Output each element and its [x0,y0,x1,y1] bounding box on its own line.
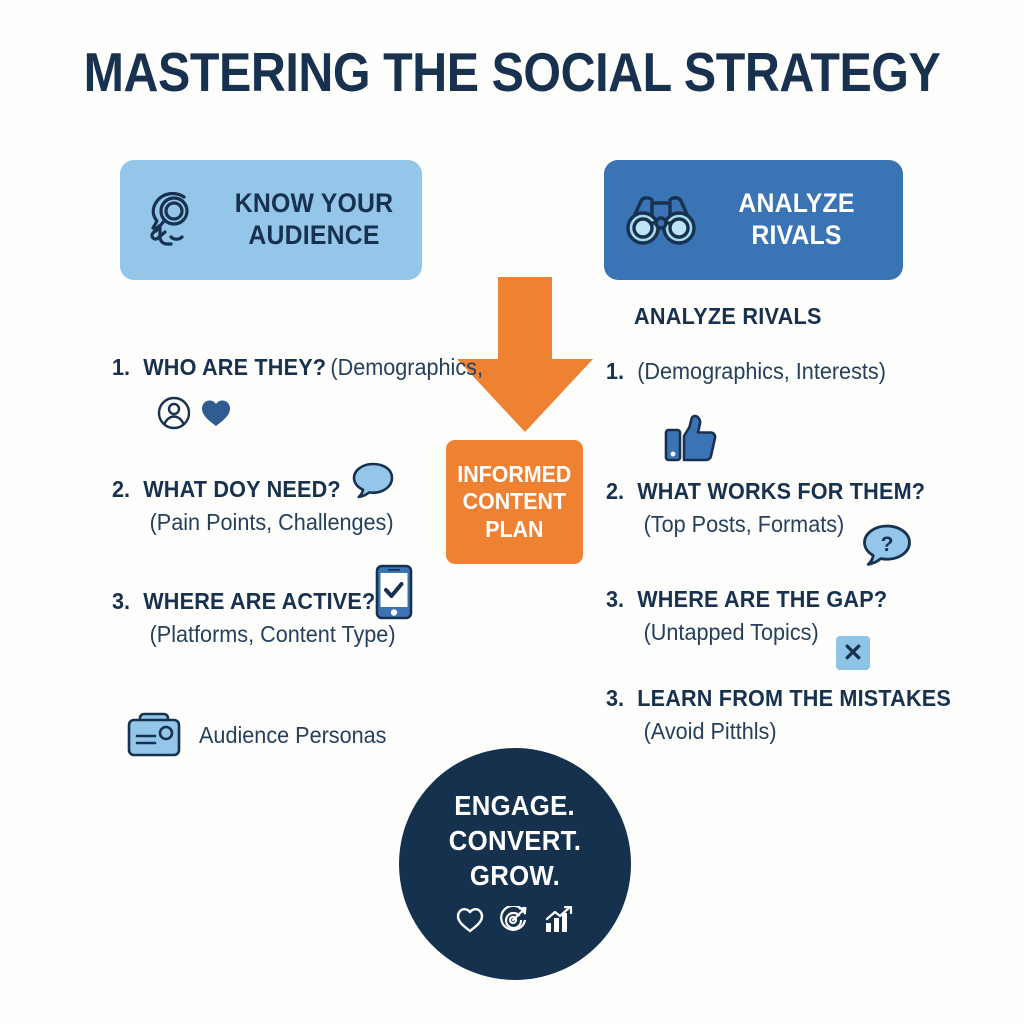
header-pill-know-your-audience[interactable]: KNOW YOUR AUDIENCE [120,160,422,280]
right-item-2-strong: WHAT WORKS FOR THEM? [637,478,925,504]
right-item-1-number: 1. [606,358,624,384]
header-pill-label-right: ANALYZE RIVALS [711,188,881,252]
left-item-1-number: 1. [112,354,130,380]
left-item-2-paren: (Pain Points, Challenges) [112,509,394,536]
informed-content-plan-label: INFORMED CONTENT PLAN [457,461,571,542]
left-item-2-strong: WHAT DOY NEED? [143,476,341,502]
page-title: MASTERING THE SOCIAL STRATEGY [61,40,962,104]
id-card-icon [126,711,182,764]
circle-icon-row [456,906,574,939]
right-item-3-line: 3.WHERE ARE THE GAP? [606,586,887,613]
right-item-3-number: 3. [606,586,624,612]
pill-left-line2: AUDIENCE [248,220,379,250]
center-box-line3: PLAN [485,516,543,542]
binoculars-icon [618,183,704,257]
question-bubble-icon: ? [862,524,912,577]
left-item-1-line: 1.WHO ARE THEY? (Demographics, [112,354,483,381]
growth-chart-icon [544,906,574,939]
user-circle-icon [157,396,191,435]
right-item-1: 1.(Demographics, Interests) [606,358,904,385]
right-item-4-number: 3. [606,685,624,711]
heart-icon [201,399,231,432]
right-item-1-line: 1.(Demographics, Interests) [606,358,886,385]
left-item-1: 1.WHO ARE THEY? (Demographics, [112,354,507,381]
circle-line-3: GROW. [470,859,560,894]
left-item-3-line: 3.WHERE ARE ACTIVE? [112,588,396,615]
audience-personas-caption: Audience Personas [199,722,387,749]
right-item-2-line: 2.WHAT WORKS FOR THEM? [606,478,925,505]
speech-bubble-icon [352,462,394,505]
left-item-3: 3.WHERE ARE ACTIVE? (Platforms, Content … [112,588,414,648]
target-arrow-icon [499,906,529,939]
right-item-4-line: 3.LEARN FROM THE MISTAKES [606,685,951,712]
right-item-1-paren: (Demographics, Interests) [637,358,886,384]
phone-check-icon [375,564,413,625]
left-item-3-strong: WHERE ARE ACTIVE? [143,588,375,614]
left-item-1-paren: (Demographics, [330,354,483,380]
infographic-canvas: MASTERING THE SOCIAL STRATEGY KNOW YOUR … [0,0,1024,1024]
header-pill-analyze-rivals[interactable]: ANALYZE RIVALS [604,160,903,280]
thumbs-up-icon [664,414,718,467]
left-item-3-number: 3. [112,588,130,614]
engage-convert-grow-circle[interactable]: ENGAGE. CONVERT. GROW. [399,748,631,980]
heart-outline-icon [456,907,484,938]
right-item-4-paren: (Avoid Pitthls) [606,718,951,745]
header-pill-label-left: KNOW YOUR AUDIENCE [228,188,401,252]
head-with-magnifier-icon [134,183,220,257]
svg-text:?: ? [881,533,894,556]
center-box-line2: CONTENT [463,488,566,514]
x-badge-icon: ✕ [836,636,870,670]
pill-right-line2: RIVALS [751,220,841,250]
right-item-2-number: 2. [606,478,624,504]
pill-right-line1: ANALYZE [738,188,854,218]
right-column-subhead: ANALYZE RIVALS [634,303,822,330]
center-box-line1: INFORMED [457,461,571,487]
right-item-4: 3.LEARN FROM THE MISTAKES (Avoid Pitthls… [606,685,973,745]
pill-left-line1: KNOW YOUR [235,188,394,218]
circle-line-2: CONVERT. [449,824,581,859]
circle-line-1: ENGAGE. [455,789,576,824]
left-item-1-strong: WHO ARE THEY? [143,354,326,380]
left-item-2-number: 2. [112,476,130,502]
right-item-4-strong: LEARN FROM THE MISTAKES [637,685,951,711]
right-item-3-strong: WHERE ARE THE GAP? [637,586,887,612]
informed-content-plan-box[interactable]: INFORMED CONTENT PLAN [446,440,583,564]
left-item-3-paren: (Platforms, Content Type) [112,621,396,648]
